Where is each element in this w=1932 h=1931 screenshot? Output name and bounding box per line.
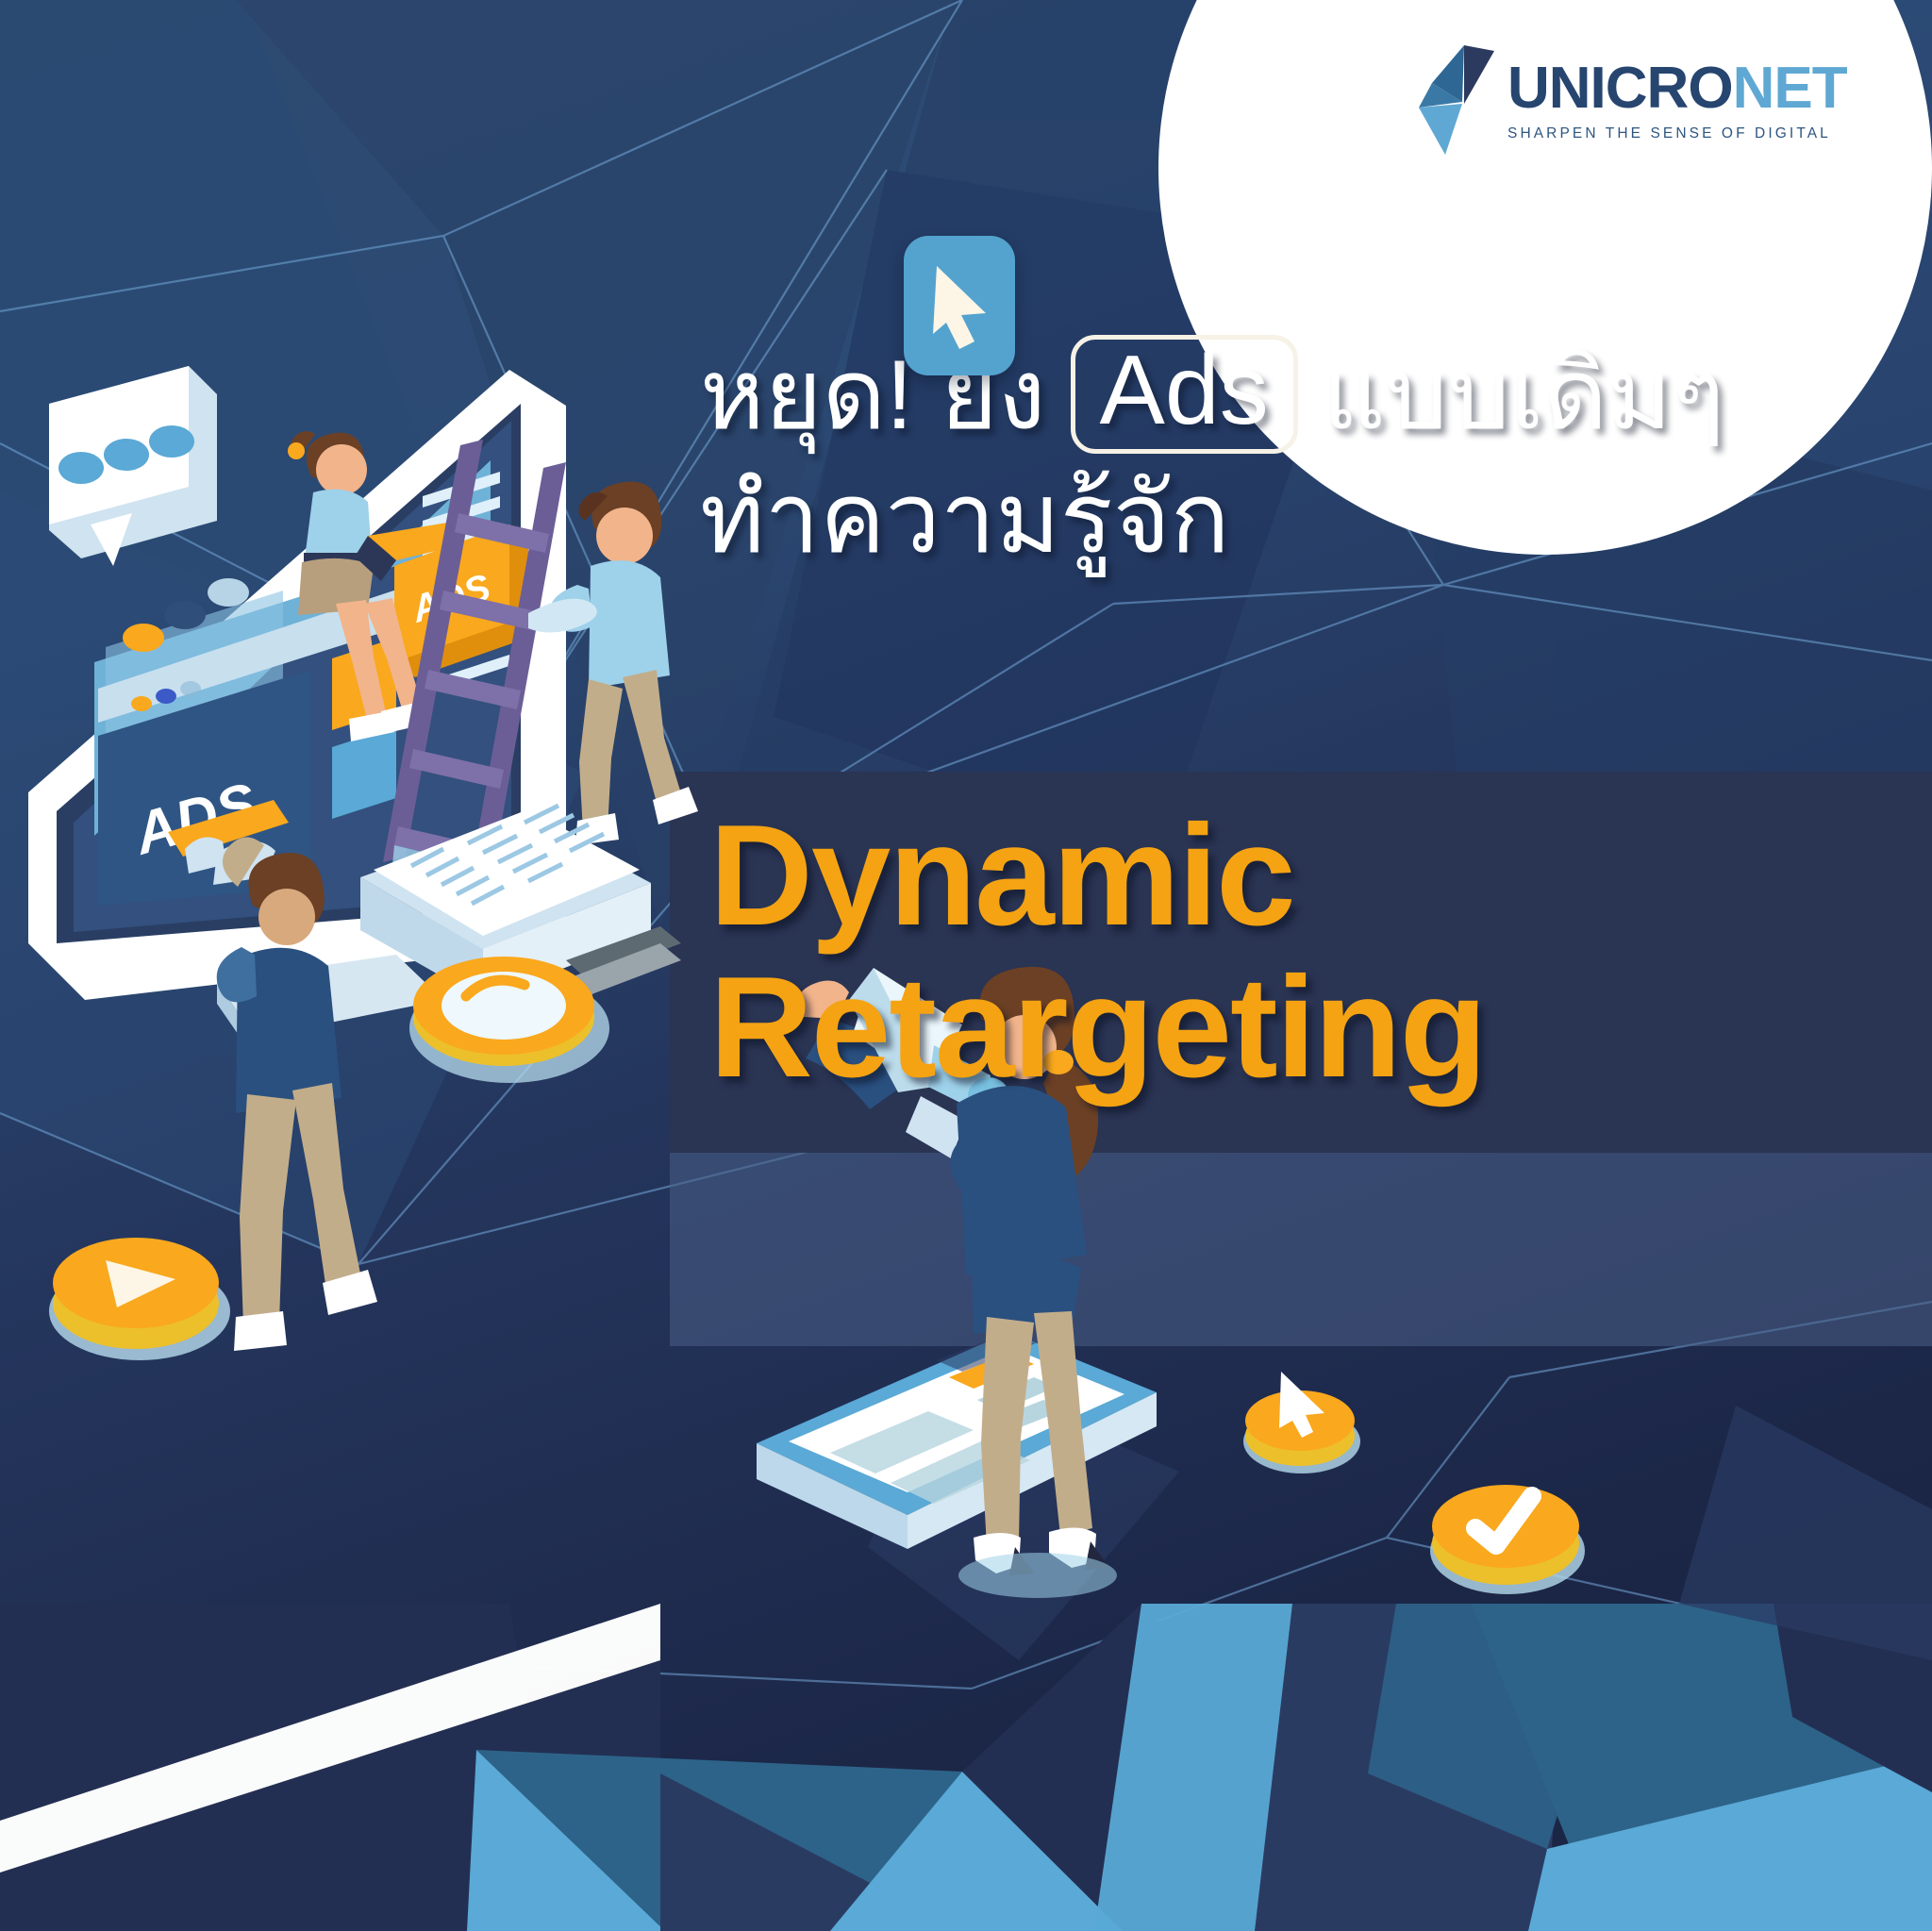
- play-button-disc: [49, 1238, 230, 1360]
- headline: หยุด! ยิง Ads แบบเดิมๆ ทำความรู้จัก: [700, 335, 1917, 577]
- headline-line2-text: ทำความรู้จัก: [700, 461, 1230, 577]
- logo-wordmark: UNICRONET: [1507, 59, 1847, 118]
- unicronet-mark-icon: [1407, 45, 1494, 155]
- check-button-disc: [1430, 1485, 1585, 1594]
- logo-wordmark-part2: NET: [1733, 56, 1847, 121]
- logo-wordmark-part1: UNICRO: [1507, 56, 1733, 121]
- cursor-arrow-icon: [925, 260, 993, 351]
- isometric-illustration: ADS ADS: [0, 283, 811, 1604]
- chat-bubble-icon: [49, 366, 217, 566]
- logo-tagline: SHARPEN THE SENSE OF DIGITAL: [1507, 126, 1847, 141]
- main-title-line-2: Retargeting: [709, 952, 1926, 1104]
- headline-line1-after: แบบเดิมๆ: [1323, 338, 1725, 454]
- main-title: Dynamic Retargeting: [709, 800, 1926, 1104]
- headline-line-2: ทำความรู้จัก: [700, 461, 1917, 577]
- headline-line-1: หยุด! ยิง Ads แบบเดิมๆ: [700, 335, 1917, 454]
- cursor-button-disc: [1243, 1372, 1360, 1473]
- ads-chip[interactable]: Ads: [1071, 335, 1298, 454]
- main-title-line-1: Dynamic: [709, 800, 1926, 952]
- promo-poster: UNICRONET SHARPEN THE SENSE OF DIGITAL: [0, 0, 1932, 1931]
- cursor-badge[interactable]: [904, 236, 1015, 375]
- tablet-document: [757, 1332, 1157, 1549]
- brand-logo[interactable]: UNICRONET SHARPEN THE SENSE OF DIGITAL: [1407, 34, 1860, 166]
- isometric-discs: [1207, 1358, 1698, 1679]
